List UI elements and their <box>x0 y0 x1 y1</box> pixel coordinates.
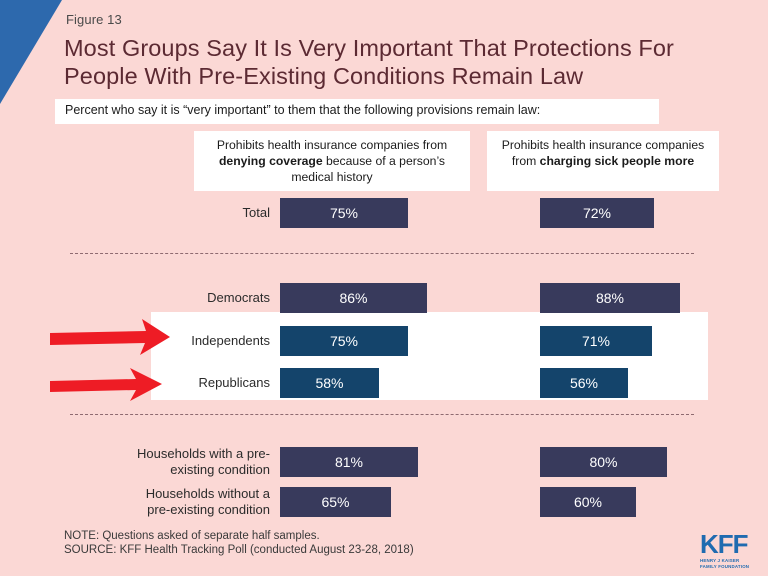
bar-households-with-left: 81% <box>280 447 418 477</box>
row-label-line: existing condition <box>60 462 270 478</box>
bar-value-label: 75% <box>330 205 358 221</box>
row-label-line: pre-existing condition <box>60 502 270 518</box>
bar-value-label: 88% <box>596 290 624 306</box>
bar-value-label: 80% <box>589 454 617 470</box>
row-label-households-without: Households without apre-existing conditi… <box>60 486 270 518</box>
figure-label: Figure 13 <box>66 12 122 27</box>
bar-republicans-right: 56% <box>540 368 628 398</box>
header-fragment: Prohibits health insurance companies fro… <box>217 138 447 152</box>
bar-republicans-left: 58% <box>280 368 379 398</box>
bar-households-with-right: 80% <box>540 447 667 477</box>
subtitle-banner: Percent who say it is “very important” t… <box>55 99 659 124</box>
row-label-households-with: Households with a pre-existing condition <box>60 446 270 478</box>
row-label-line: Total <box>60 205 270 221</box>
bar-value-label: 56% <box>570 375 598 391</box>
bar-households-without-left: 65% <box>280 487 391 517</box>
row-label-line: Households with a pre- <box>60 446 270 462</box>
bar-households-without-right: 60% <box>540 487 636 517</box>
bar-value-label: 65% <box>321 494 349 510</box>
arrow-republicans-icon <box>50 368 162 401</box>
bar-value-label: 86% <box>339 290 367 306</box>
arrow-independents-icon <box>50 319 170 355</box>
header-fragment: charging sick people more <box>540 154 694 168</box>
slide-canvas: Figure 13 Most Groups Say It Is Very Imp… <box>0 0 768 576</box>
bar-value-label: 72% <box>583 205 611 221</box>
bar-democrats-right: 88% <box>540 283 680 313</box>
bar-value-label: 58% <box>315 375 343 391</box>
kff-logo-line1: HENRY J KAISER <box>700 558 762 563</box>
bar-independents-left: 75% <box>280 326 408 356</box>
header-fragment: denying coverage <box>219 154 323 168</box>
bar-value-label: 60% <box>574 494 602 510</box>
table-row: Households without apre-existing conditi… <box>0 485 768 519</box>
row-label-line: Households without a <box>60 486 270 502</box>
source-text: SOURCE: KFF Health Tracking Poll (conduc… <box>64 543 414 557</box>
kff-logo: KFF HENRY J KAISER FAMILY FOUNDATION <box>700 531 762 571</box>
note-text: NOTE: Questions asked of separate half s… <box>64 529 414 543</box>
kff-logo-mark: KFF <box>700 531 762 557</box>
bar-value-label: 81% <box>335 454 363 470</box>
table-row: Total75%72% <box>0 196 768 230</box>
subtitle-text: Percent who say it is “very important” t… <box>65 103 540 117</box>
kff-logo-line2: FAMILY FOUNDATION <box>700 564 762 569</box>
table-row: Households with a pre-existing condition… <box>0 445 768 479</box>
note-and-source: NOTE: Questions asked of separate half s… <box>64 529 414 557</box>
column-header-charging-sick-more: Prohibits health insurance companies fro… <box>487 131 719 191</box>
row-label-total: Total <box>60 205 270 221</box>
bar-independents-right: 71% <box>540 326 652 356</box>
bar-democrats-left: 86% <box>280 283 427 313</box>
column-header-denying-coverage: Prohibits health insurance companies fro… <box>194 131 470 191</box>
divider-above-party <box>70 253 694 254</box>
bar-total-right: 72% <box>540 198 654 228</box>
page-title: Most Groups Say It Is Very Important Tha… <box>64 34 754 90</box>
divider-below-party <box>70 414 694 415</box>
bar-total-left: 75% <box>280 198 408 228</box>
bar-value-label: 71% <box>582 333 610 349</box>
bar-value-label: 75% <box>330 333 358 349</box>
row-label-line: Democrats <box>60 290 270 306</box>
annotation-arrows <box>50 305 190 405</box>
row-label-democrats: Democrats <box>60 290 270 306</box>
